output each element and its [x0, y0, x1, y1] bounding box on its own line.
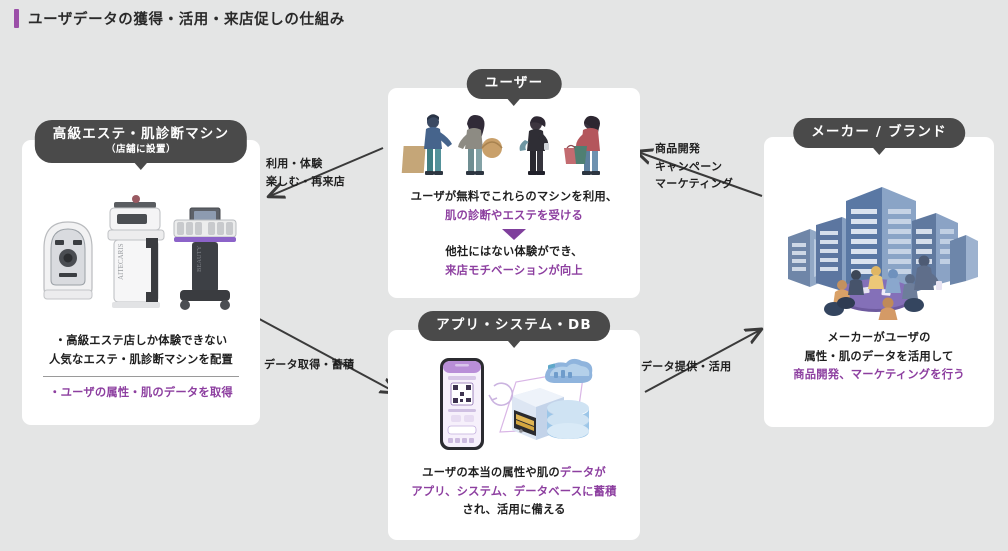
arrow-label-use-line2: 楽しむ・再来店	[266, 173, 345, 191]
card-maker-caption-line2: 属性・肌のデータを活用して	[764, 348, 994, 367]
card-maker-brand: メーカー / ブランド	[764, 137, 994, 427]
phone-server-database-illustration	[388, 352, 640, 460]
card-user-caption-line3: 他社にはない体験ができ、	[388, 243, 640, 262]
card-machine: 高級エステ・肌診断マシン （店舗に設置）	[22, 140, 260, 425]
arrow-label-data-provide: データ提供・活用	[641, 358, 731, 376]
card-app-caption-line1-a: ユーザの本当の属性や肌の	[422, 466, 560, 479]
arrow-label-use-experience: 利用・体験 楽しむ・再来店	[266, 155, 345, 190]
card-user-badge: ユーザー	[467, 69, 562, 99]
page-title-text: ユーザデータの獲得・活用・来店促しの仕組み	[28, 8, 345, 29]
arrow-label-prod-line1: 商品開発	[655, 140, 733, 158]
page-title: ユーザデータの獲得・活用・来店促しの仕組み	[14, 8, 345, 29]
card-user-caption-line4: 来店モチベーションが向上	[388, 262, 640, 281]
card-app-badge: アプリ・システム・DB	[418, 311, 610, 341]
arrow-label-prov-line1: データ提供・活用	[641, 358, 731, 376]
arrow-label-prod-line3: マーケティング	[655, 175, 733, 193]
arrow-label-data-capture: データ取得・蓄積	[264, 356, 354, 374]
card-machine-caption-highlight: ・ユーザの属性・肌のデータを取得	[22, 384, 260, 403]
card-app-caption-line1: ユーザの本当の属性や肌のデータが	[388, 464, 640, 483]
card-machine-badge: 高級エステ・肌診断マシン （店舗に設置）	[35, 120, 247, 163]
svg-text:BEAUTY: BEAUTY	[196, 245, 203, 272]
card-maker-badge: メーカー / ブランド	[793, 118, 965, 148]
arrow-label-use-line1: 利用・体験	[266, 155, 345, 173]
card-maker-caption: メーカーがユーザの 属性・肌のデータを活用して 商品開発、マーケティングを行う	[764, 329, 994, 385]
card-maker-caption-line3: 商品開発、マーケティングを行う	[764, 366, 994, 385]
office-buildings-meeting-illustration	[764, 175, 994, 320]
card-app-caption-line3: され、活用に備える	[388, 501, 640, 520]
arrow-label-prod-line2: キャンペーン	[655, 158, 733, 176]
card-machine-caption: ・高級エステ店しか体験できない 人気なエステ・肌診断マシンを配置 ・ユーザの属性…	[22, 332, 260, 403]
diagram-canvas: ユーザデータの獲得・活用・来店促しの仕組み 高級エステ・肌診断マシン （店舗に設…	[0, 0, 1008, 551]
card-app-caption-line1-b: データが	[560, 466, 606, 479]
caption-divider	[43, 376, 239, 377]
shopping-people-illustration	[388, 112, 640, 184]
card-machine-badge-text: 高級エステ・肌診断マシン	[53, 126, 229, 142]
card-user: ユーザー	[388, 88, 640, 298]
card-app-system-db: アプリ・システム・DB	[388, 330, 640, 540]
card-machine-badge-sub: （店舗に設置）	[53, 144, 229, 156]
title-accent-bar	[14, 9, 19, 28]
arrow-label-data-line1: データ取得・蓄積	[264, 356, 354, 374]
beauty-machines-illustration: AITECARIS	[22, 190, 260, 325]
card-maker-caption-line1: メーカーがユーザの	[764, 329, 994, 348]
svg-text:AITECARIS: AITECARIS	[117, 243, 125, 280]
card-maker-badge-text: メーカー / ブランド	[811, 124, 947, 140]
card-machine-caption-line2: 人気なエステ・肌診断マシンを配置	[22, 351, 260, 370]
card-user-caption-line2: 肌の診断やエステを受ける	[388, 207, 640, 226]
arrow-label-product-dev: 商品開発 キャンペーン マーケティング	[655, 140, 733, 193]
card-app-caption: ユーザの本当の属性や肌のデータが アプリ、システム、データベースに蓄積 され、活…	[388, 464, 640, 520]
card-app-caption-line2: アプリ、システム、データベースに蓄積	[388, 483, 640, 502]
card-user-badge-text: ユーザー	[485, 75, 544, 91]
card-user-caption: ユーザが無料でこれらのマシンを利用、 肌の診断やエステを受ける 他社にはない体験…	[388, 188, 640, 281]
triangle-down-icon	[502, 229, 526, 240]
card-machine-caption-line1: ・高級エステ店しか体験できない	[22, 332, 260, 351]
card-app-badge-text: アプリ・システム・DB	[436, 317, 592, 333]
card-user-caption-line1: ユーザが無料でこれらのマシンを利用、	[388, 188, 640, 207]
